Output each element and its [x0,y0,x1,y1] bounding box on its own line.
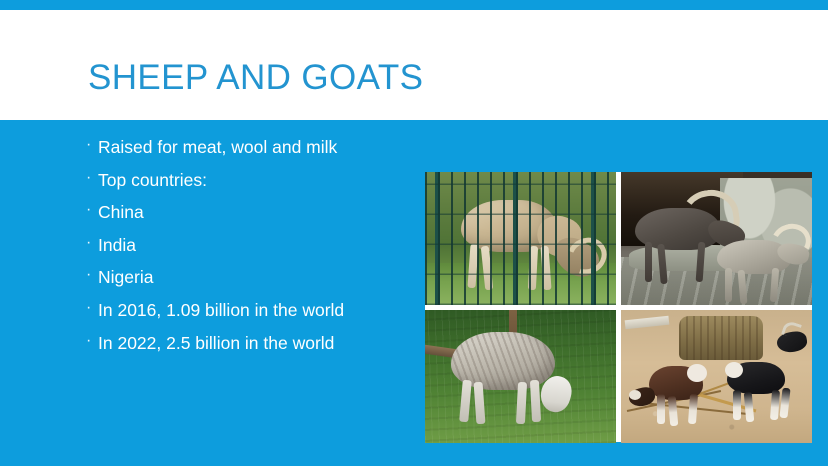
woolly-sheep-grazing-photo [425,310,616,443]
page-title: SHEEP AND GOATS [88,57,423,99]
bullet-marker-icon: · [86,199,98,221]
goat-kids-on-sand-photo [621,310,812,443]
list-item-label: Raised for meat, wool and milk [98,136,416,159]
goat-leg [725,268,732,302]
slide-header-band: SHEEP AND GOATS [0,10,828,120]
list-item-label: India [98,234,416,257]
brown-goat-kid-leg [657,394,665,424]
list-item: · Top countries: [86,169,416,202]
bullet-marker-icon: · [86,297,98,319]
wire-fence [425,172,616,305]
ibex-leg [645,242,652,282]
list-item: · In 2016, 1.09 billion in the world [86,299,416,332]
list-item: · Nigeria [86,266,416,299]
bullet-marker-icon: · [86,232,98,254]
list-item: · China [86,201,416,234]
brown-goat-kid-face [629,390,641,400]
black-goat-kid-shoulder [725,362,743,378]
list-item: · Raised for meat, wool and milk [86,136,416,169]
mouflon-sheep-grazing-photo [425,172,616,305]
bullet-marker-icon: · [86,134,98,156]
list-item: · India [86,234,416,267]
brown-goat-kid-rump [687,364,707,382]
bullet-marker-icon: · [86,167,98,189]
bullet-marker-icon: · [86,330,98,352]
list-item-label: In 2016, 1.09 billion in the world [98,299,416,322]
ibex-goats-on-rocks-photo [621,172,812,305]
list-item-label: Top countries: [98,169,416,192]
tree-stump [679,316,763,360]
bullet-marker-icon: · [86,264,98,286]
list-item: · In 2022, 2.5 billion in the world [86,332,416,365]
list-item-label: In 2022, 2.5 billion in the world [98,332,416,355]
list-item-label: China [98,201,416,224]
photo-collage [425,172,812,442]
presentation-slide: SHEEP AND GOATS · Raised for meat, wool … [0,0,828,466]
bullet-list: · Raised for meat, wool and milk · Top c… [86,136,416,364]
black-goat-kid-leg [733,390,741,420]
list-item-label: Nigeria [98,266,416,289]
